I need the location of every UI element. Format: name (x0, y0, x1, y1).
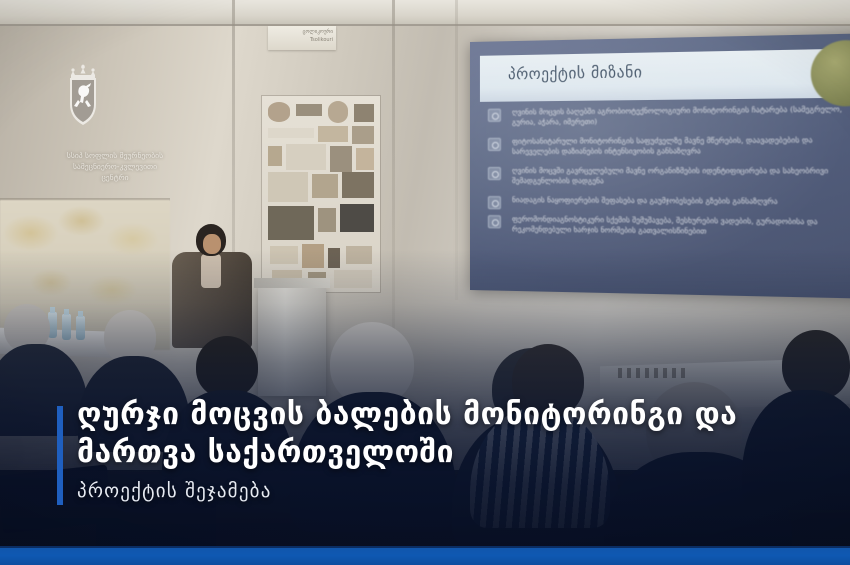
wall-joint-screen (455, 0, 458, 300)
organization-name: სსიპ სოფლის მეურნეობის სამეცნიერო-კვლევი… (30, 150, 200, 183)
papers-on-table (618, 368, 688, 378)
org-line-3: ცენტრი (30, 172, 200, 183)
projection-screen: პროექტის მიზანი ღვინის მოცვის ბაღებში აგ… (470, 33, 850, 299)
slide-bullet: ფიტოსანიტარული მონიტორინგის საფუძველზე მ… (486, 135, 850, 157)
video-frame: სსიპ სოფლის მეურნეობის სამეცნიერო-კვლევი… (0, 0, 850, 565)
water-bottle (76, 316, 85, 340)
org-line-2: სამეცნიერო-კვლევითი (30, 161, 200, 172)
bullet-marker-icon (488, 167, 501, 180)
slide-title: პროექტის მიზანი (508, 63, 643, 83)
wall-sign: ცოლიკოური Tsolikouri (268, 26, 336, 50)
bullet-text: ნიადაგის ნაყოფიერების შეფასება და გაუმჯო… (512, 195, 778, 206)
georgia-coat-of-arms-icon (60, 62, 106, 128)
presenter (170, 224, 254, 348)
bullet-marker-icon (488, 196, 501, 209)
bullet-text: ღვინის მოცვის ბაღებში აგრობიოტექნოლოგიურ… (512, 104, 842, 126)
slide-bullet: ფერომონდიაგნოსტიკური სქემის შემუშავება, … (486, 214, 850, 239)
wall-sign-georgian: ცოლიკოური (278, 29, 333, 36)
title-accent-bar (57, 406, 63, 505)
wall-sign-latin: Tsolikouri (278, 37, 333, 44)
bullet-text: ფიტოსანიტარული მონიტორინგის საფუძველზე მ… (512, 135, 813, 156)
org-line-1: სსიპ სოფლის მეურნეობის (30, 150, 200, 161)
title-block: ღურჯი მოცვის ბალების მონიტორინგი და მართ… (77, 396, 817, 503)
ceiling-seam (0, 24, 850, 26)
audience-head (196, 336, 258, 398)
bullet-marker-icon (488, 138, 501, 151)
slide-bullet: ღვინის მოცვში გავრცელებული მავნე ორგანიზ… (486, 166, 850, 187)
slide-bullet: ღვინის მოცვის ბაღებში აგრობიოტექნოლოგიურ… (486, 104, 850, 128)
title-line-2: მართვა საქართველოში (77, 434, 817, 472)
bullet-text: ფერომონდიაგნოსტიკური სქემის შემუშავება, … (512, 214, 818, 235)
slide-bullet: ნიადაგის ნაყოფიერების შეფასება და გაუმჯო… (486, 195, 850, 208)
wall-display-board (262, 96, 380, 292)
water-bottle (62, 314, 71, 340)
ceiling-band (0, 0, 850, 26)
presenter-face (203, 234, 221, 254)
wall-joint-right (392, 0, 395, 330)
bullet-marker-icon (488, 109, 501, 122)
slide-bullets: ღვინის მოცვის ბაღებში აგრობიოტექნოლოგიურ… (486, 104, 850, 248)
subtitle: პროექტის შეჯამება (77, 479, 817, 503)
bullet-text: ღვინის მოცვში გავრცელებული მავნე ორგანიზ… (512, 166, 828, 185)
bullet-marker-icon (488, 215, 501, 228)
lectern (258, 286, 326, 396)
presenter-shirt (201, 254, 221, 288)
bottom-bar (0, 548, 850, 565)
title-line-1: ღურჯი მოცვის ბალების მონიტორინგი და (77, 396, 817, 434)
